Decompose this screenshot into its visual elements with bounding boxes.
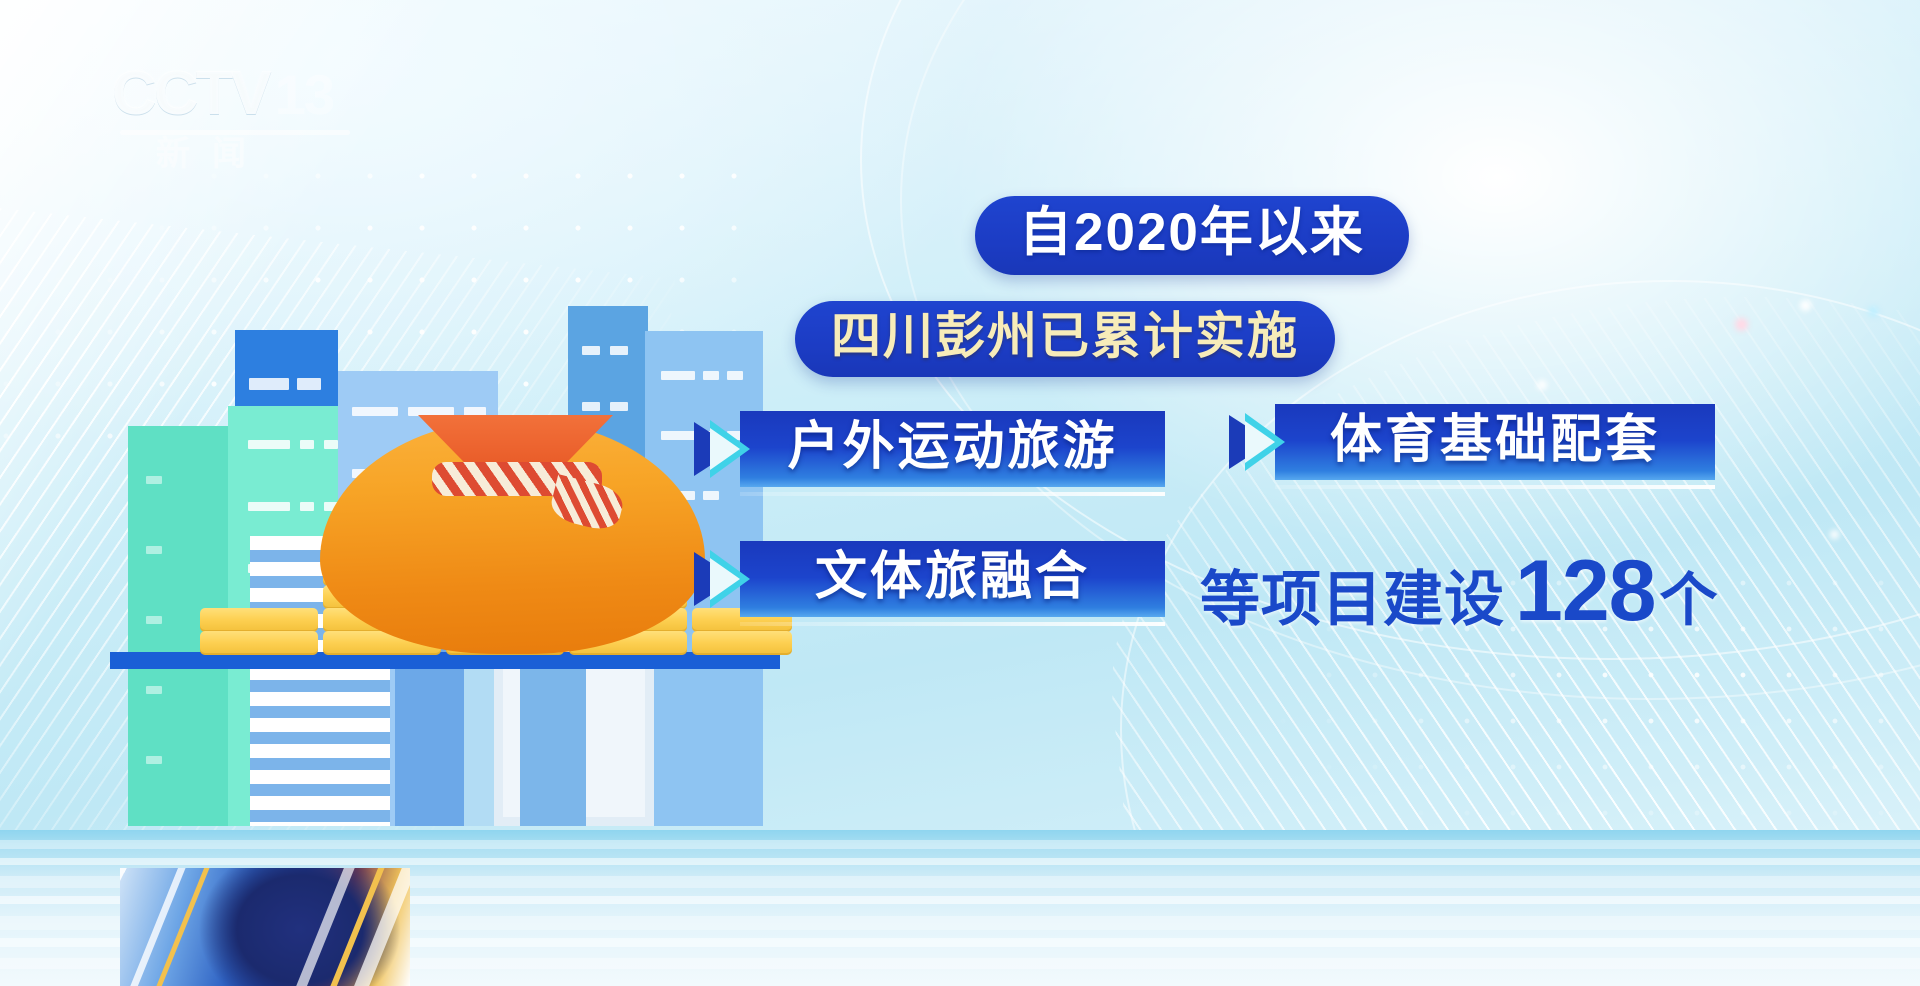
glow-dot-5	[1830, 530, 1839, 539]
lower-stripe	[0, 840, 1920, 849]
building-white-frame-inner	[520, 666, 586, 826]
category-label: 文体旅融合	[815, 548, 1090, 606]
glow-dot-2	[1800, 300, 1811, 311]
glow-dot-4	[1537, 380, 1547, 390]
summary-unit: 个	[1660, 553, 1719, 637]
play-triangle-icon	[1225, 411, 1289, 473]
category-label: 户外运动旅游	[787, 418, 1117, 476]
headline-pill-label: 自2020年以来	[1019, 203, 1365, 262]
building-blue-top	[235, 330, 338, 406]
subject-pill-row: 四川彭州已累计实施	[795, 301, 1335, 377]
category-label: 体育基础配套	[1330, 411, 1660, 469]
coin-stack-left	[200, 608, 318, 654]
channel-logo-text: CCTV	[112, 63, 269, 125]
glow-dot-1	[1735, 318, 1748, 331]
headline-pill-row: 自2020年以来	[975, 196, 1409, 275]
headline-pill: 自2020年以来	[975, 196, 1409, 275]
cctv-13-news-logo: CCTV 13 新闻	[112, 62, 382, 172]
category-bar-culture-tourism: 文体旅融合	[740, 541, 1165, 617]
play-triangle-icon	[690, 418, 754, 480]
channel-number-text: 13	[275, 62, 333, 127]
lower-stripe	[0, 858, 1920, 865]
category-bar-outdoor: 户外运动旅游	[740, 411, 1165, 487]
city-illustration	[0, 186, 820, 826]
subject-pill-label: 四川彭州已累计实施	[831, 308, 1299, 364]
category-row-1-right: 体育基础配套	[1225, 404, 1715, 480]
lower-third-band	[0, 830, 1920, 986]
broadcast-frame: CCTV 13 新闻 自2020年以来 四川彭州已累计实施 户外运动旅游	[0, 0, 1920, 986]
subject-pill: 四川彭州已累计实施	[795, 301, 1335, 377]
summary-number: 128	[1515, 548, 1656, 634]
play-triangle-icon	[690, 548, 754, 610]
category-bar-sports-facility: 体育基础配套	[1275, 404, 1715, 480]
summary-line: 等项目建设 128 个	[1200, 548, 1719, 638]
glow-dot-3	[1868, 306, 1879, 317]
news-intro-thumbnail	[120, 868, 410, 986]
channel-sub-text: 新闻	[156, 137, 382, 171]
category-row-1: 户外运动旅游	[690, 411, 1165, 487]
summary-prefix: 等项目建设	[1200, 551, 1505, 638]
category-row-2: 文体旅融合	[690, 541, 1165, 617]
